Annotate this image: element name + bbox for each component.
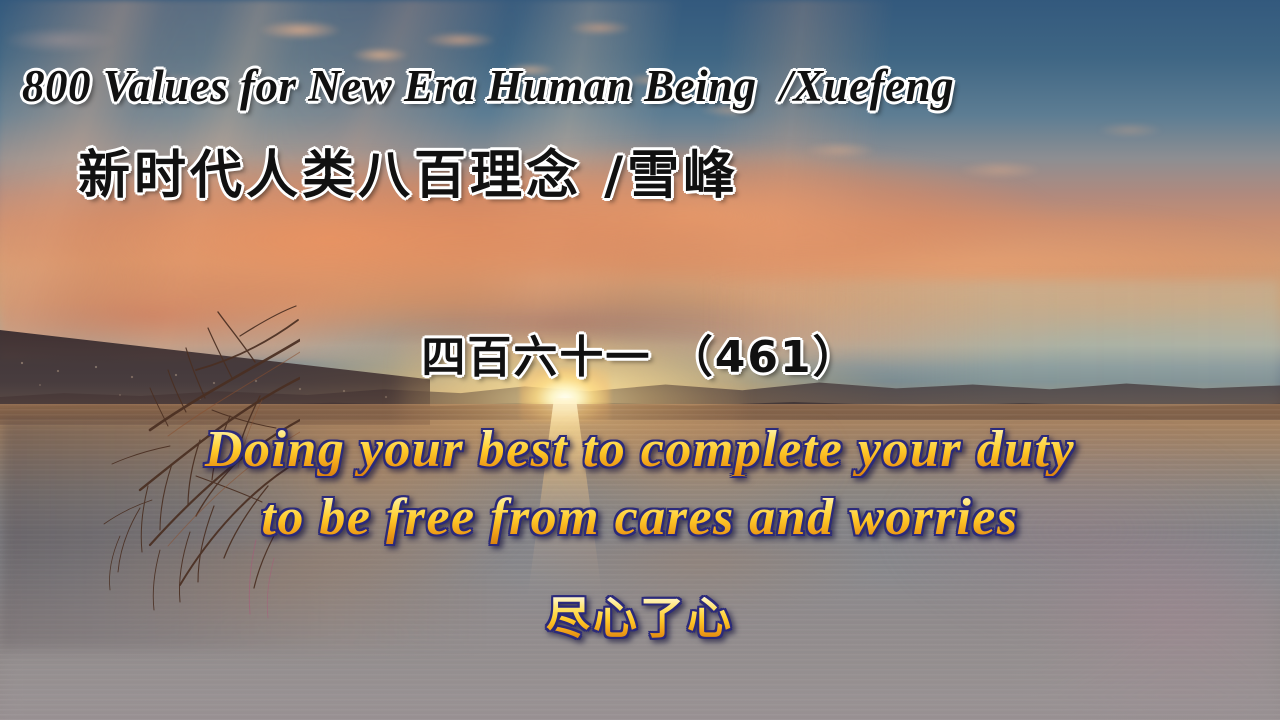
page-title-chinese: 新时代人类八百理念 /雪峰 (78, 150, 739, 202)
quote-english-line-1: Doing your best to complete your duty (0, 424, 1280, 476)
page-title-english: 800 Values for New Era Human Being /Xuef… (22, 64, 954, 109)
entry-number: 四百六十一 （461） (0, 336, 1280, 380)
quote-chinese: 尽心了心 (0, 597, 1280, 641)
quote-english-line-2: to be free from cares and worries (0, 492, 1280, 544)
slide-canvas: 800 Values for New Era Human Being /Xuef… (0, 0, 1280, 720)
